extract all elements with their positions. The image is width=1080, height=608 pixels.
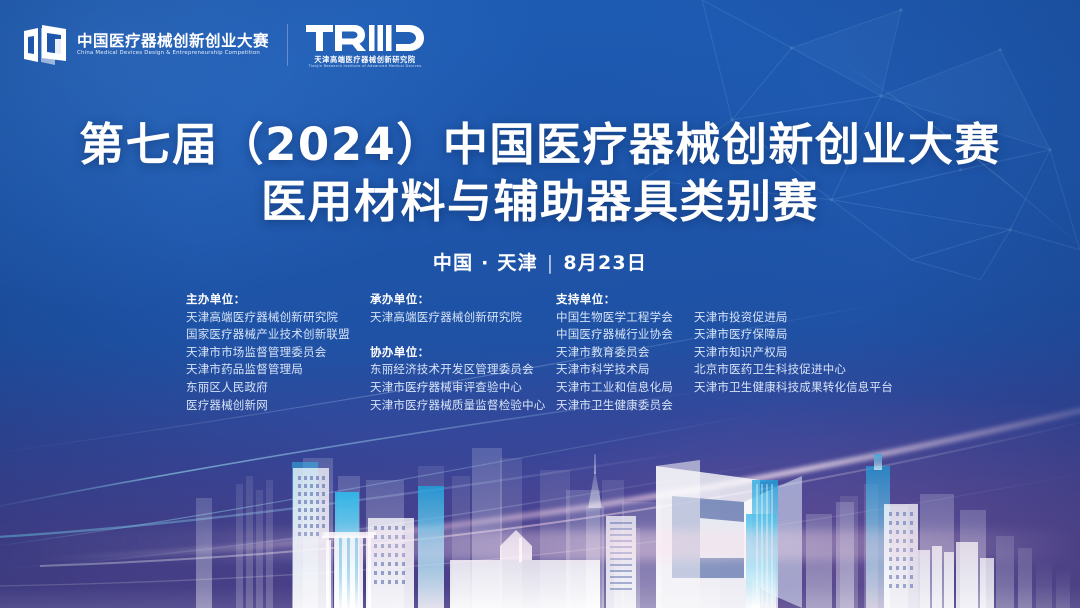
host-item: 东丽区人民政府: [186, 379, 370, 397]
co-organizer-item: 天津市医疗器械审评查验中心: [370, 379, 556, 397]
supporter-item: 天津市卫生健康委员会: [556, 397, 694, 415]
host-item: 医疗器械创新网: [186, 397, 370, 415]
subtitle-date: 8月23日: [563, 252, 647, 274]
title-block: 第七届（2024）中国医疗器械创新创业大赛 医用材料与辅助器具类别赛 中国 · …: [0, 118, 1080, 275]
supporter-item: 天津市工业和信息化局: [556, 379, 694, 397]
supporter-item: 天津市医疗保障局: [694, 326, 904, 344]
cmdc-logo-en: China Medical Devices Design & Entrepren…: [77, 51, 269, 57]
organizers-block: 主办单位： 天津高端医疗器械创新研究院 国家医疗器械产业技术创新联盟 天津市市场…: [186, 291, 904, 414]
cmdc-logo-text: 中国医疗器械创新创业大赛 China Medical Devices Desig…: [77, 34, 269, 57]
city-skyline-illustration: [0, 418, 1080, 608]
host-item: 国家医疗器械产业技术创新联盟: [186, 326, 370, 344]
organizer-item: 天津高端医疗器械创新研究院: [370, 309, 556, 327]
organizers-column-organizer: 承办单位： 天津高端医疗器械创新研究院 协办单位： 东丽经济技术开发区管理委员会…: [370, 291, 556, 414]
host-heading: 主办单位：: [186, 291, 370, 309]
host-item: 天津高端医疗器械创新研究院: [186, 309, 370, 327]
title-line-2: 医用材料与辅助器具类别赛: [0, 175, 1080, 228]
logo-divider: [287, 24, 288, 66]
host-item: 天津市市场监督管理委员会: [186, 344, 370, 362]
skyline-ground-glow: [0, 530, 1080, 560]
supporter-item: 天津市卫生健康科技成果转化信息平台: [694, 379, 904, 397]
supporter-item: 天津市知识产权局: [694, 344, 904, 362]
supporter-item: 中国医疗器械行业协会: [556, 326, 694, 344]
trimd-wordmark-icon: [306, 22, 424, 54]
title-line-1: 第七届（2024）中国医疗器械创新创业大赛: [0, 118, 1080, 171]
logo-bar: 中国医疗器械创新创业大赛 China Medical Devices Desig…: [22, 22, 424, 69]
supporter-item: 天津市投资促进局: [694, 309, 904, 327]
co-organizer-heading: 协办单位：: [370, 344, 556, 362]
trimd-logo: 天津高端医疗器械创新研究院 Tianjin Research Institute…: [306, 22, 424, 69]
subtitle-location-date: 中国 · 天津|8月23日: [0, 248, 1080, 275]
organizers-column-supporter-b: 天津市投资促进局 天津市医疗保障局 天津市知识产权局 北京市医药卫生科技促进中心…: [694, 291, 904, 397]
supporter-item: 天津市科学技术局: [556, 361, 694, 379]
trimd-logo-cn: 天津高端医疗器械创新研究院: [314, 56, 415, 63]
supporter-item: 中国生物医学工程学会: [556, 309, 694, 327]
event-poster: 中国医疗器械创新创业大赛 China Medical Devices Desig…: [0, 0, 1080, 608]
organizers-spacer: [370, 326, 556, 344]
organizers-column-host: 主办单位： 天津高端医疗器械创新研究院 国家医疗器械产业技术创新联盟 天津市市场…: [186, 291, 370, 414]
supporter-heading: 支持单位：: [556, 291, 694, 309]
subtitle-separator: |: [547, 252, 555, 274]
organizers-spacer: [694, 291, 904, 309]
co-organizer-item: 东丽经济技术开发区管理委员会: [370, 361, 556, 379]
host-item: 天津市药品监督管理局: [186, 361, 370, 379]
cmdc-logo: 中国医疗器械创新创业大赛 China Medical Devices Desig…: [22, 25, 269, 65]
organizers-column-supporter-a: 支持单位： 中国生物医学工程学会 中国医疗器械行业协会 天津市教育委员会 天津市…: [556, 291, 694, 414]
cmdc-logo-cn: 中国医疗器械创新创业大赛: [77, 34, 269, 50]
open-door-logo-mark-icon: [22, 25, 68, 65]
co-organizer-item: 天津市医疗器械质量监督检验中心: [370, 397, 556, 415]
supporter-item: 天津市教育委员会: [556, 344, 694, 362]
supporter-item: 北京市医药卫生科技促进中心: [694, 361, 904, 379]
organizer-heading: 承办单位：: [370, 291, 556, 309]
trimd-logo-en: Tianjin Research Institute of Advanced M…: [309, 65, 422, 69]
subtitle-location: 中国 · 天津: [433, 252, 538, 274]
